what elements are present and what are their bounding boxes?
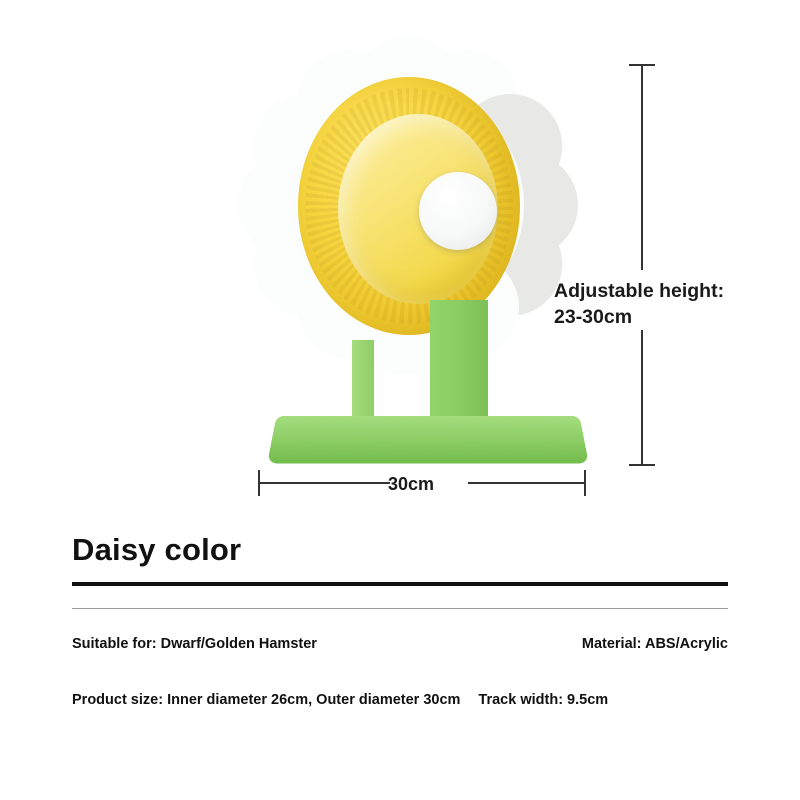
spec-row-suitability: Suitable for: Dwarf/Golden Hamster Mater… xyxy=(72,636,728,652)
height-dimension-label: Adjustable height: 23-30cm xyxy=(554,278,754,330)
divider-thin xyxy=(72,608,728,609)
height-dimension-label-line2: 23-30cm xyxy=(554,304,754,330)
height-dimension-tick-top xyxy=(629,64,655,66)
spec-row-size: Product size: Inner diameter 26cm, Outer… xyxy=(72,692,728,708)
color-title: Daisy color xyxy=(72,532,241,568)
height-dimension-tick-bottom xyxy=(629,464,655,466)
spec-suitable-for: Suitable for: Dwarf/Golden Hamster xyxy=(72,636,317,652)
stand-base xyxy=(267,416,589,464)
height-dimension-line xyxy=(641,64,643,270)
height-dimension-line-lower xyxy=(641,330,643,466)
spec-material: Material: ABS/Acrylic xyxy=(582,636,728,652)
product-info-panel: Daisy color Suitable for: Dwarf/Golden H… xyxy=(0,510,800,800)
product-image-page: Adjustable height: 23-30cm 30cm Daisy co… xyxy=(0,0,800,800)
width-dimension-tick-right xyxy=(584,470,586,496)
height-dimension-label-line1: Adjustable height: xyxy=(554,278,754,304)
product-illustration: Adjustable height: 23-30cm 30cm xyxy=(0,0,800,510)
spec-product-size: Product size: Inner diameter 26cm, Outer… xyxy=(72,692,460,708)
hamster-wheel-hub xyxy=(419,172,497,250)
stand-post xyxy=(430,300,488,435)
daisy-flower-disc xyxy=(243,32,573,378)
width-dimension-tick-left xyxy=(258,470,260,496)
divider-thick xyxy=(72,582,728,586)
width-dimension-line-right xyxy=(468,482,586,484)
width-dimension-line-left xyxy=(258,482,390,484)
spec-track-width: Track width: 9.5cm xyxy=(478,692,608,708)
width-dimension-label: 30cm xyxy=(388,474,434,495)
